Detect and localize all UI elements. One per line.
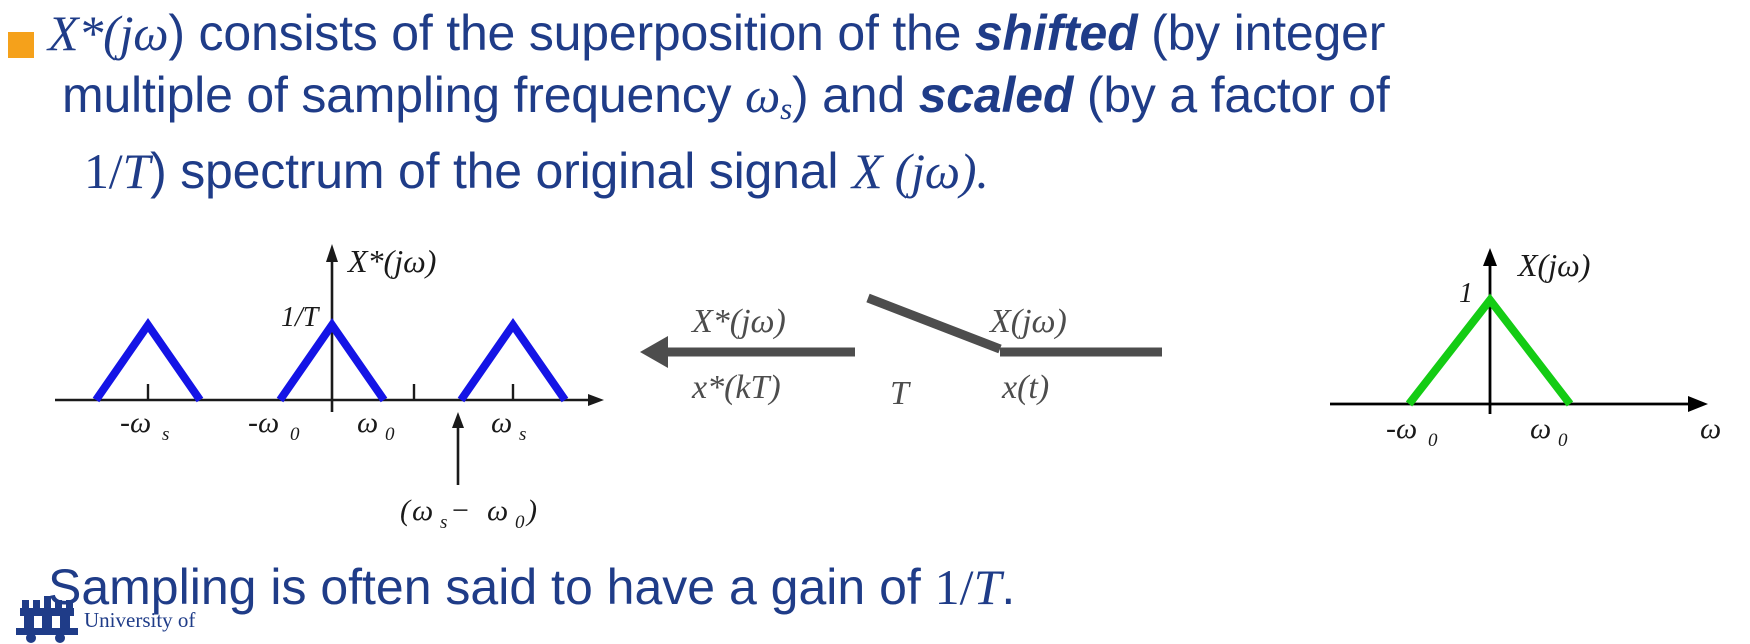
bullet-line3-omega: ω <box>925 143 960 199</box>
bullet-line2-omega: ω <box>745 67 780 123</box>
callout-omega-0-sub: 0 <box>515 512 525 533</box>
left-plot-label-neg-ws-sub: s <box>162 424 169 445</box>
sampling-spectrum-figure: X*(jω) 1/T -ω s -ω 0 ω 0 ω s ( ω s − ω <box>0 232 1750 552</box>
middle-left-arrow-head <box>640 336 668 368</box>
left-plot-peak-label: 1/T <box>281 302 321 333</box>
bullet-line-3: 1/T) spectrum of the original signal X (… <box>48 140 1738 202</box>
bullet-line-1: X*(jω) consists of the superposition of … <box>48 2 1738 64</box>
middle-right-top-label: X(jω) <box>988 303 1067 340</box>
bullet-line2-text-c: (by a factor of <box>1073 67 1389 123</box>
right-plot-x-axis-arrowhead <box>1688 396 1708 412</box>
university-logo-text: University of <box>84 610 195 631</box>
right-plot-label-w0: ω 0 <box>1530 412 1568 451</box>
university-crest-icon <box>14 590 80 644</box>
bullet-line3-frac: 1/ <box>84 143 123 199</box>
left-plot-label-w0-sub: 0 <box>385 424 395 445</box>
callout-minus: − <box>450 494 470 527</box>
left-plot-label-w0-main: ω <box>357 406 378 439</box>
bottom-statement-T: T <box>974 559 1002 615</box>
right-plot-group: X(jω) 1 -ω 0 ω 0 ω <box>1330 247 1721 451</box>
right-plot-label-w0-main: ω <box>1530 412 1551 445</box>
left-plot-label-ws-main: ω <box>491 406 512 439</box>
left-plot-y-axis-arrowhead <box>326 244 338 262</box>
bullet-line3-text-d: ). <box>960 143 989 199</box>
bullet-line3-text-c: (j <box>882 143 924 199</box>
bullet-line1-omega: ω <box>133 5 168 61</box>
left-plot-callout-arrowhead <box>452 412 464 428</box>
left-plot-label-neg-ws: -ω s <box>120 406 169 445</box>
callout-open-paren: ( <box>400 494 412 527</box>
bullet-line1-text-b: ) consists of the superposition of the <box>168 5 975 61</box>
left-plot-label-neg-w0-main: -ω <box>248 406 279 439</box>
left-plot-label-neg-w0-sub: 0 <box>290 424 300 445</box>
left-plot-label-w0: ω 0 <box>357 406 395 445</box>
middle-left-arrow-top-label: X*(jω) <box>690 303 786 340</box>
bullet-line3-T: T <box>123 143 151 199</box>
left-plot-x-axis-arrowhead <box>588 394 604 406</box>
right-plot-peak-label: 1 <box>1459 278 1473 309</box>
bullet-line3-X: X <box>852 143 882 199</box>
callout-close-paren: ) <box>525 494 537 527</box>
left-plot-label-ws: ω s <box>491 406 526 445</box>
middle-left-arrow-bottom-label: x*(kT) <box>691 369 781 406</box>
left-plot-label-neg-ws-main: -ω <box>120 406 151 439</box>
callout-omega-0: ω <box>487 494 508 527</box>
callout-omega-s-sub: s <box>440 512 447 533</box>
bullet-paragraph: X*(jω) consists of the superposition of … <box>48 2 1738 202</box>
sampler-switch-arm <box>868 298 1000 349</box>
right-plot-label-neg-w0-main: -ω <box>1386 412 1417 445</box>
left-plot-label-neg-w0: -ω 0 <box>248 406 300 445</box>
right-plot-y-axis-arrowhead <box>1483 248 1497 266</box>
bullet-line2-bold: scaled <box>919 67 1073 123</box>
bullet-line2-omega-sub: s <box>780 91 792 126</box>
bullet-line1-math-a: X*(j <box>48 5 133 61</box>
right-plot-label-neg-w0: -ω 0 <box>1386 412 1438 451</box>
bottom-statement-period: . <box>1001 559 1015 615</box>
middle-block-group: X*(jω) x*(kT) T X(jω) x(t) <box>640 298 1162 412</box>
bullet-line2-text-b: ) and <box>792 67 919 123</box>
middle-right-bottom-label: x(t) <box>1001 369 1049 406</box>
bullet-line2-text-a: multiple of sampling frequency <box>62 67 745 123</box>
bullet-line3-text-b: ) spectrum of the original signal <box>150 143 852 199</box>
left-plot-label-ws-sub: s <box>519 424 526 445</box>
sampler-period-label: T <box>890 375 911 412</box>
bullet-line-2: multiple of sampling frequency ωs) and s… <box>48 64 1738 140</box>
left-plot-callout-label: ( ω s − ω 0 ) <box>400 494 537 533</box>
bullet-line1-text-c: (by integer <box>1137 5 1385 61</box>
bullet-marker-icon <box>8 32 34 58</box>
right-plot-label-w0-sub: 0 <box>1558 430 1568 451</box>
right-plot-axis-label: ω <box>1700 412 1721 445</box>
callout-omega-s: ω <box>412 494 433 527</box>
right-plot-title: X(jω) <box>1516 247 1590 283</box>
right-plot-label-neg-w0-sub: 0 <box>1428 430 1438 451</box>
bullet-line1-bold: shifted <box>975 5 1138 61</box>
bottom-statement-frac: 1/ <box>935 559 974 615</box>
left-plot-group: X*(jω) 1/T -ω s -ω 0 ω 0 ω s ( ω s − ω <box>55 243 604 533</box>
university-logo: University of <box>10 590 240 644</box>
left-plot-title: X*(jω) <box>346 243 436 279</box>
